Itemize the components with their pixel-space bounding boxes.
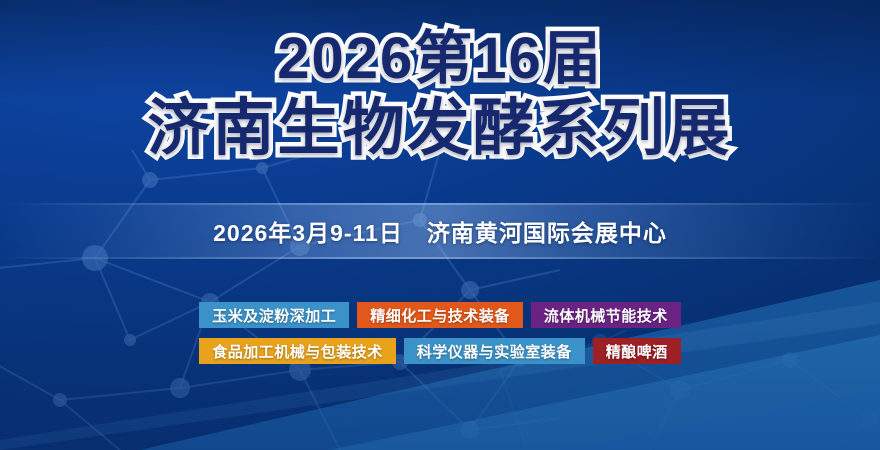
topic-tag-list: 玉米及淀粉深加工 精细化工与技术装备 流体机械节能技术 食品加工机械与包装技术 …	[0, 302, 880, 364]
title-line-1: 2026第16届	[0, 30, 880, 88]
topic-tag[interactable]: 玉米及淀粉深加工	[199, 302, 349, 328]
exhibition-banner: 2026第16届 济南生物发酵系列展 2026年3月9-11日 济南黄河国际会展…	[0, 0, 880, 450]
topic-tag[interactable]: 科学仪器与实验室装备	[404, 338, 585, 364]
title-block: 2026第16届 济南生物发酵系列展	[0, 30, 880, 160]
topic-tag-row-1: 玉米及淀粉深加工 精细化工与技术装备 流体机械节能技术	[199, 302, 681, 328]
title-line-2: 济南生物发酵系列展	[0, 98, 880, 160]
topic-tag[interactable]: 精细化工与技术装备	[357, 302, 523, 328]
topic-tag[interactable]: 精酿啤酒	[593, 338, 681, 364]
topic-tag[interactable]: 流体机械节能技术	[531, 302, 681, 328]
topic-tag-row-2: 食品加工机械与包装技术 科学仪器与实验室装备 精酿啤酒	[199, 338, 681, 364]
topic-tag[interactable]: 食品加工机械与包装技术	[199, 338, 396, 364]
event-subtitle: 2026年3月9-11日 济南黄河国际会展中心	[0, 214, 880, 248]
